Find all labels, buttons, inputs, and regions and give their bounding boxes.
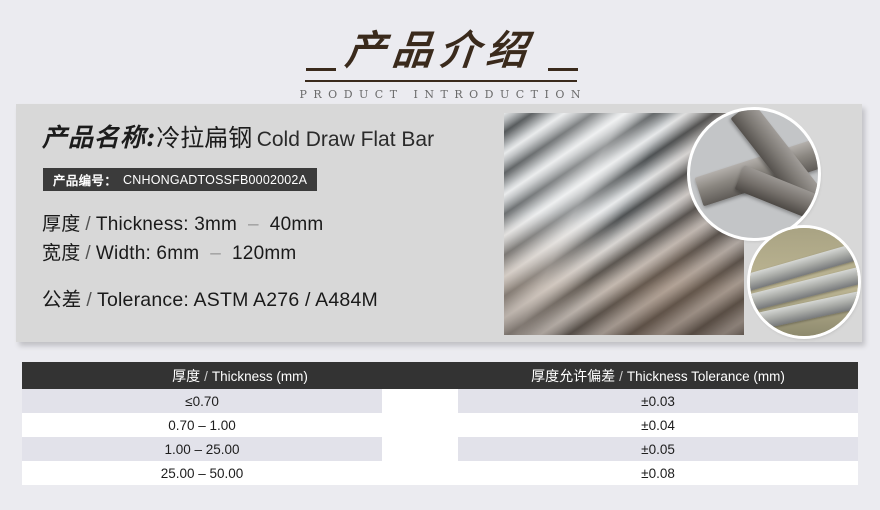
table-header-tolerance: 厚度允许偏差/Thickness Tolerance (mm) [458,362,858,389]
table-row: ≤0.70 ±0.03 [22,389,858,413]
table-header-thickness-sep: / [204,369,208,384]
product-name-label: 产品名称 [42,123,146,152]
spec-width-en-label: Width: [96,243,151,264]
spec-tolerance-sep: / [86,289,92,311]
table-header-thickness-en: Thickness (mm) [212,369,308,384]
product-name: 产品名称:冷拉扁钢 Cold Draw Flat Bar [42,118,434,154]
page-header: 产品介绍 PRODUCT INTRODUCTION [0,8,880,98]
page-subtitle: PRODUCT INTRODUCTION [0,88,880,101]
title-dash-right [548,68,578,71]
cell-thickness: 1.00 – 25.00 [22,437,382,461]
spec-thickness-cn: 厚度 [42,214,80,235]
product-photo-inset-top [690,110,818,238]
spec-thickness-min: 3mm [194,214,237,235]
spec-width: 宽度/Width: 6mm–120mm [42,238,296,265]
cell-spacer [382,461,458,485]
spec-thickness-max: 40mm [270,214,324,235]
cell-tolerance: ±0.05 [458,437,858,461]
title-divider-rule [305,80,577,82]
cell-tolerance: ±0.03 [458,389,858,413]
spec-thickness-dash: – [248,214,259,235]
table-row: 0.70 – 1.00 ±0.04 [22,413,858,437]
product-code-badge: 产品编号： CNHONGADTOSSFB0002002A [43,168,317,191]
product-info-card: 产品名称:冷拉扁钢 Cold Draw Flat Bar 产品编号： CNHON… [16,104,862,342]
product-name-cn: 冷拉扁钢 [156,125,252,152]
spec-width-min: 6mm [156,243,199,264]
cell-spacer [382,413,458,437]
page-title: 产品介绍 [0,18,880,76]
cell-spacer [382,389,458,413]
product-photo-montage [488,104,862,342]
cell-thickness: 25.00 – 50.00 [22,461,382,485]
spec-tolerance-value: ASTM A276 / A484M [194,289,378,311]
table-header-thickness: 厚度/Thickness (mm) [22,362,458,389]
table-header-tolerance-cn: 厚度允许偏差 [531,368,615,384]
product-code-value: CNHONGADTOSSFB0002002A [123,173,307,187]
product-name-colon: : [146,123,156,152]
spec-width-sep: / [85,243,90,264]
thickness-tolerance-table: 厚度/Thickness (mm) 厚度允许偏差/Thickness Toler… [22,362,858,485]
spec-tolerance-cn: 公差 [42,289,81,311]
product-code-label: 产品编号： [53,170,117,189]
spec-thickness-en-label: Thickness: [96,214,189,235]
table-header-tolerance-sep: / [619,369,623,384]
table-header-tolerance-en: Thickness Tolerance (mm) [627,369,785,384]
photo-warm-overlay [504,213,744,335]
spec-thickness: 厚度/Thickness: 3mm–40mm [42,209,323,236]
spec-width-max: 120mm [232,243,296,264]
spec-width-dash: – [210,243,221,264]
spec-tolerance: 公差/Tolerance: ASTM A276 / A484M [42,283,378,312]
cell-tolerance: ±0.04 [458,413,858,437]
table-header-row: 厚度/Thickness (mm) 厚度允许偏差/Thickness Toler… [22,362,858,389]
product-photo-inset-bottom [750,228,858,336]
table-row: 25.00 – 50.00 ±0.08 [22,461,858,485]
table-header-thickness-cn: 厚度 [172,368,200,384]
spec-thickness-sep: / [85,214,90,235]
cell-thickness: ≤0.70 [22,389,382,413]
spec-width-cn: 宽度 [42,243,80,264]
cell-spacer [382,437,458,461]
product-name-en: Cold Draw Flat Bar [257,128,434,151]
table-row: 1.00 – 25.00 ±0.05 [22,437,858,461]
cell-tolerance: ±0.08 [458,461,858,485]
title-dash-left [306,68,336,71]
spec-tolerance-en-label: Tolerance: [97,289,189,311]
cell-thickness: 0.70 – 1.00 [22,413,382,437]
